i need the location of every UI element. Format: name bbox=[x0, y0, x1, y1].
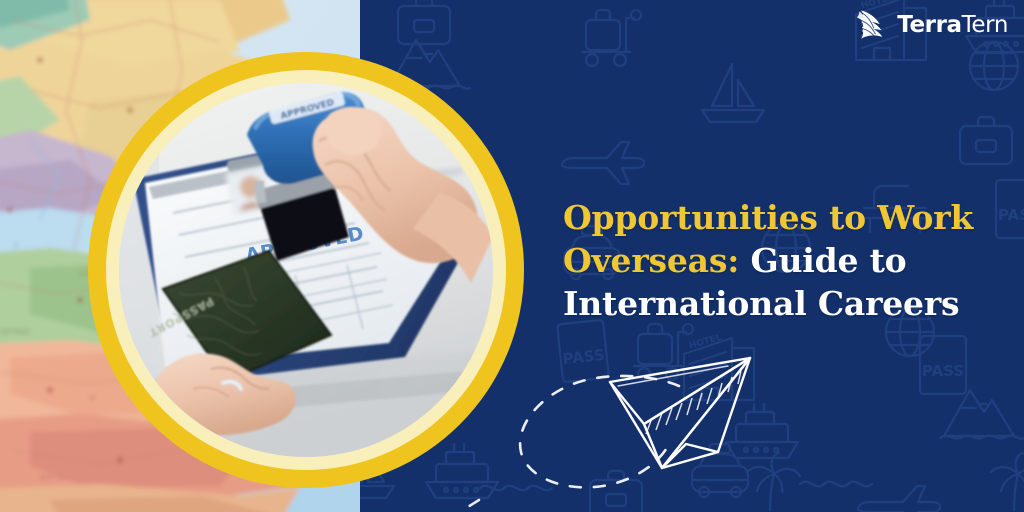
brand-name: TerraTern bbox=[897, 14, 1008, 37]
banner-root: PASS bbox=[0, 0, 1024, 512]
headline-line-2: Overseas: Guide to bbox=[563, 239, 993, 282]
headline-gold-1: Opportunities to Work bbox=[563, 198, 973, 237]
headline-white-2: Guide to bbox=[739, 241, 906, 280]
approved-stamp-photo: APPROVED bbox=[119, 83, 493, 457]
page-title: Opportunities to Work Overseas: Guide to… bbox=[563, 196, 993, 325]
brand-logo[interactable]: TerraTern bbox=[856, 7, 1008, 43]
brand-name-light: Tern bbox=[962, 12, 1008, 38]
svg-text:O P I A: O P I A bbox=[40, 474, 63, 482]
svg-text:ERITREA: ERITREA bbox=[0, 328, 30, 336]
tern-bird-icon bbox=[856, 8, 890, 42]
headline-line-3: International Careers bbox=[563, 282, 993, 325]
headline-white-3: International Careers bbox=[563, 284, 959, 323]
headline-gold-2: Overseas: bbox=[563, 241, 739, 280]
svg-text:S: S bbox=[14, 242, 19, 250]
brand-name-bold: Terra bbox=[897, 12, 961, 38]
paper-plane-icon bbox=[600, 352, 790, 472]
headline-line-1: Opportunities to Work bbox=[563, 196, 993, 239]
